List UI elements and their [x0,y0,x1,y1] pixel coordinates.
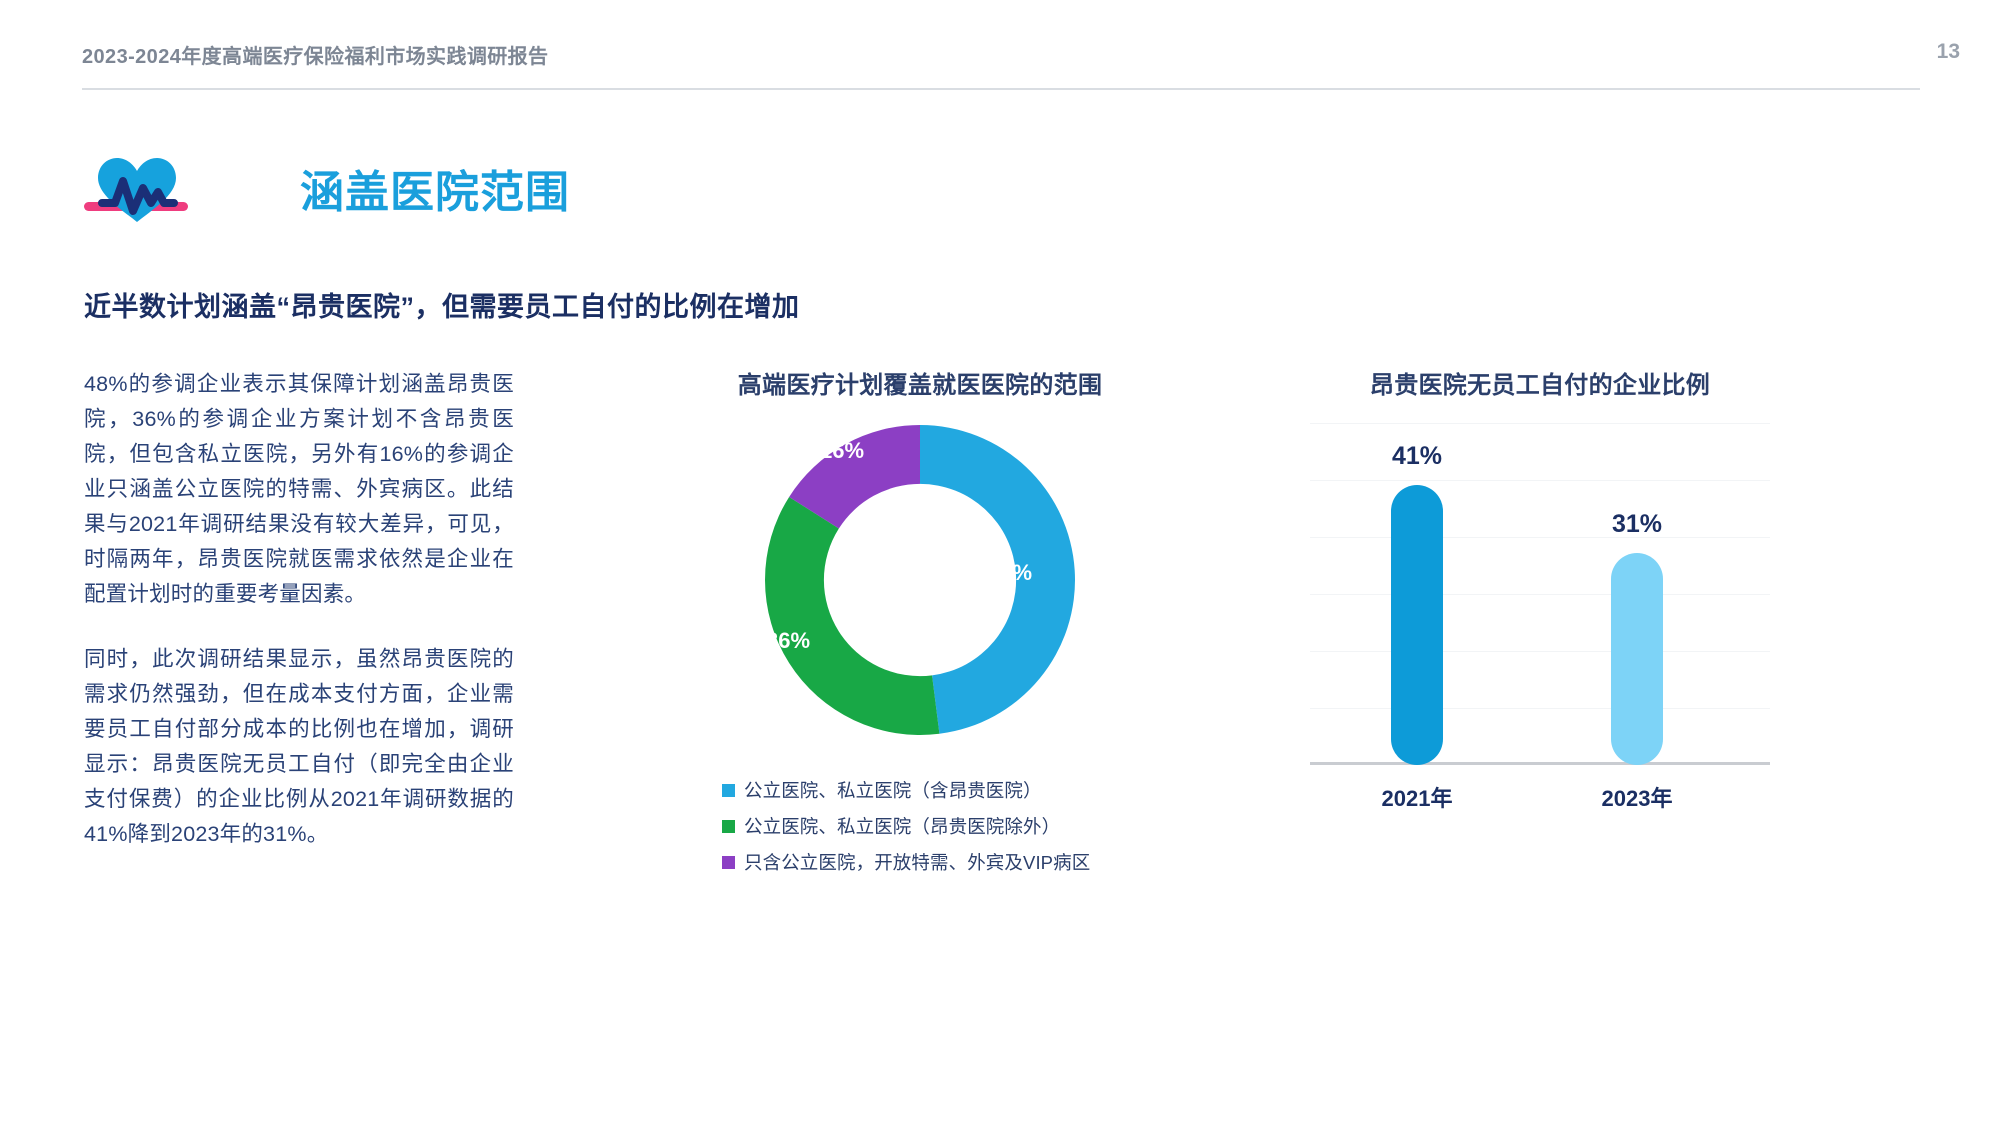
body-paragraph-2: 同时，此次调研结果显示，虽然昂贵医院的需求仍然强劲，但在成本支付方面，企业需要员… [84,642,514,852]
bar-shape-0 [1391,485,1443,765]
page-header: 2023-2024年度高端医疗保险福利市场实践调研报告 13 [0,0,2000,92]
legend-label-0: 公立医院、私立医院（含昂贵医院） [744,777,1042,803]
legend-label-2: 只含公立医院，开放特需、外宾及VIP病区 [744,849,1090,875]
body-paragraph-1: 48%的参调企业表示其保障计划涵盖昂贵医院，36%的参调企业方案计划不含昂贵医院… [84,367,514,612]
bar-shape-1 [1611,553,1663,765]
bar-category-label-0: 2021年 [1332,781,1502,813]
legend-item-1: 公立医院、私立医院（昂贵医院除外） [722,813,1182,839]
legend-swatch-icon-1 [722,820,735,833]
legend-swatch-icon-0 [722,784,735,797]
donut-slice-value-1: 36% [766,628,810,654]
bar-chart-panel: 昂贵医院无员工自付的企业比例 41% 31% 2021年 2023年 [1280,365,1800,885]
donut-chart-legend: 公立医院、私立医院（含昂贵医院） 公立医院、私立医院（昂贵医院除外） 只含公立医… [722,777,1182,885]
donut-slice-value-0: 48% [988,560,1032,586]
legend-label-1: 公立医院、私立医院（昂贵医院除外） [744,813,1060,839]
bar-category-label-1: 2023年 [1552,781,1722,813]
legend-item-2: 只含公立医院，开放特需、外宾及VIP病区 [722,849,1182,875]
section-title: 涵盖医院范围 [300,156,570,220]
heart-pulse-icon [82,148,192,226]
bar-value-label-1: 31% [1552,510,1722,539]
body-copy: 48%的参调企业表示其保障计划涵盖昂贵医院，36%的参调企业方案计划不含昂贵医院… [84,367,514,852]
section-subtitle: 近半数计划涵盖“昂贵医院”，但需要员工自付的比例在增加 [84,285,800,324]
bar-item-1: 31% [1552,423,1722,765]
bar-chart-plot: 41% 31% 2021年 2023年 [1310,423,1770,823]
donut-chart-panel: 高端医疗计划覆盖就医医院的范围 48% 36% 16% 公立医院、私立医院（含昂… [660,365,1180,885]
bar-value-label-0: 41% [1332,442,1502,471]
bar-chart-title: 昂贵医院无员工自付的企业比例 [1280,365,1800,400]
bar-item-0: 41% [1332,423,1502,765]
donut-slice-value-2: 16% [820,438,864,464]
legend-item-0: 公立医院、私立医院（含昂贵医院） [722,777,1182,803]
header-divider [82,88,1920,90]
donut-chart: 48% 36% 16% [760,420,1080,740]
report-title: 2023-2024年度高端医疗保险福利市场实践调研报告 [82,40,548,69]
slide-canvas: 2023-2024年度高端医疗保险福利市场实践调研报告 13 涵盖医院范围 近半… [0,0,2000,1125]
donut-chart-title: 高端医疗计划覆盖就医医院的范围 [660,365,1180,400]
donut-slice-1 [765,497,939,735]
page-number: 13 [1920,40,1960,64]
legend-swatch-icon-2 [722,856,735,869]
